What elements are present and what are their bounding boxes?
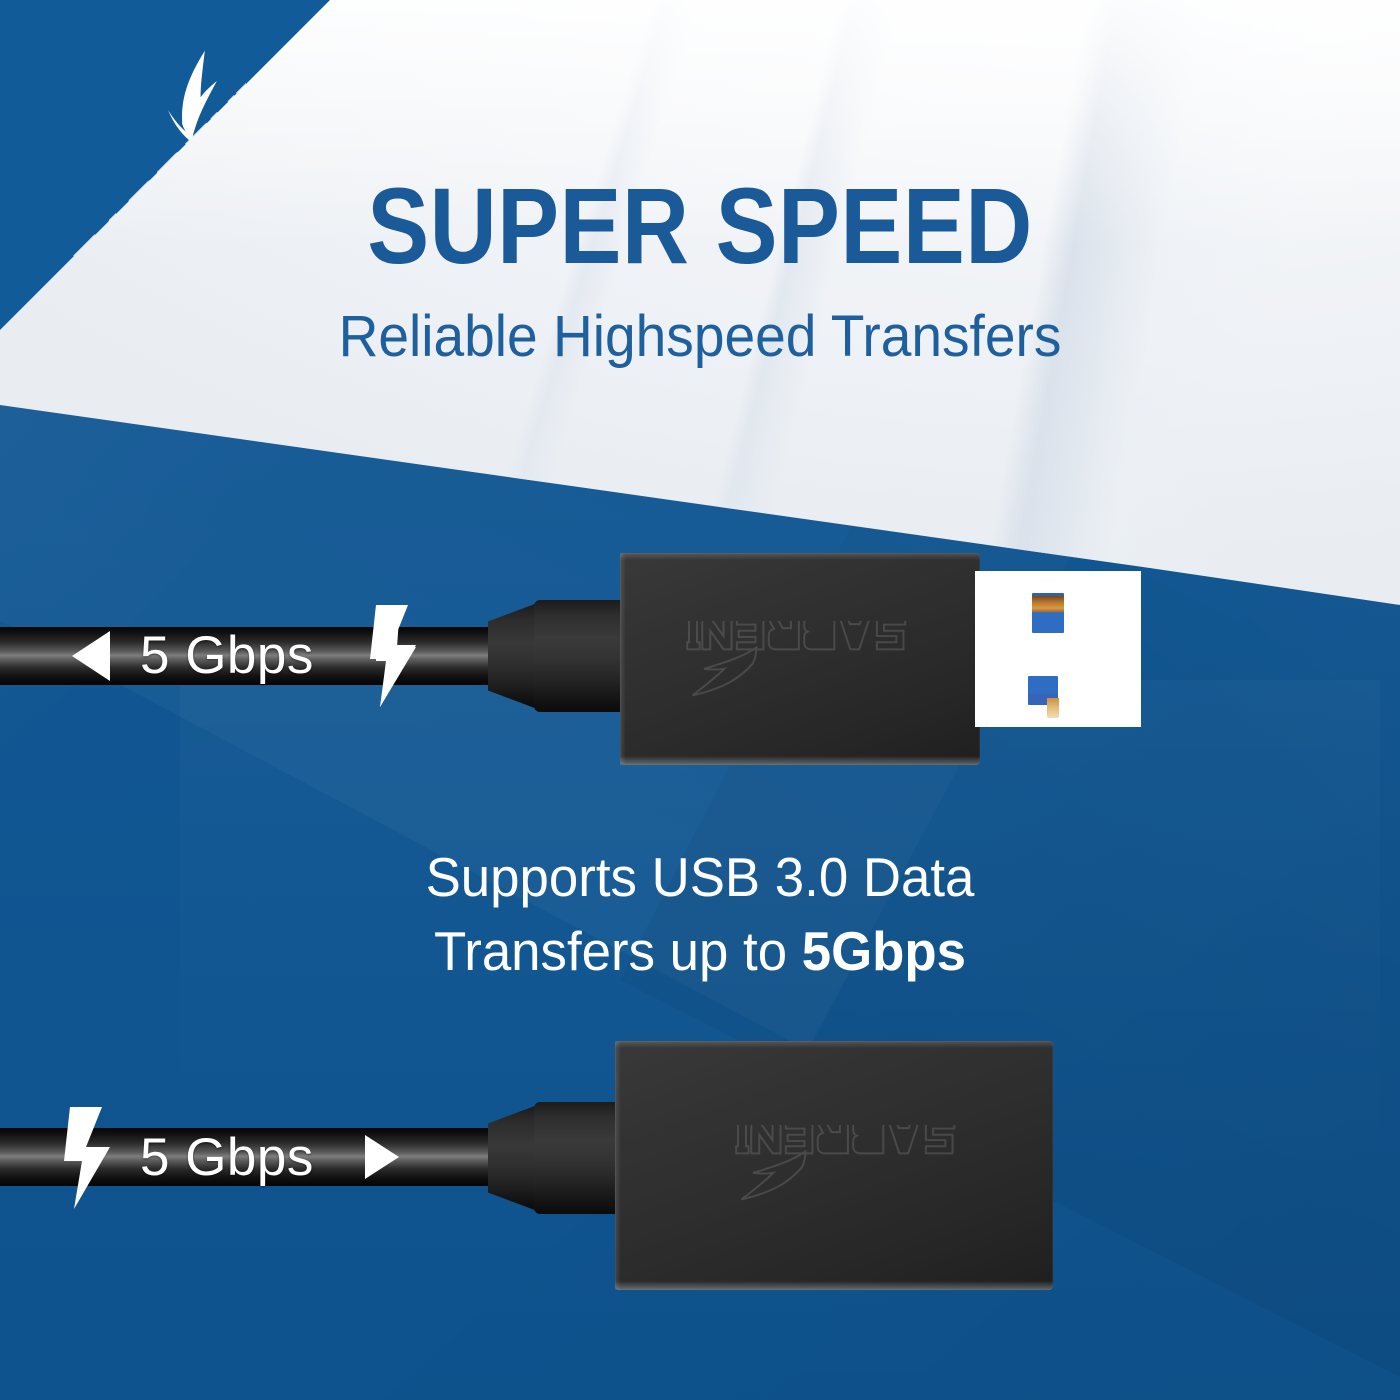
product-description-line-2-prefix: Transfers up to [434, 920, 802, 982]
top-housing-bottom-bevel [620, 756, 980, 765]
top-cable-strain-relief-boot [534, 600, 634, 712]
top-usb-connector-housing [620, 553, 980, 765]
usb-contact-pad-upper [1032, 593, 1064, 633]
product-description-emphasis: 5Gbps [802, 920, 966, 982]
bottom-housing-left-edge [615, 1041, 621, 1290]
bottom-lightning-bolt-icon [60, 1107, 120, 1209]
page-title: SUPER SPEED [98, 172, 1302, 280]
product-marketing-banner: SUPER SPEED Reliable Highspeed Transfers [0, 0, 1400, 1400]
top-housing-top-bevel [620, 553, 980, 560]
product-description-line-2: Transfers up to 5Gbps [28, 914, 1372, 988]
usb-male-tongue [975, 571, 1141, 727]
bottom-housing-sabrent-emboss-icon [697, 1125, 997, 1203]
triangle-left-icon [72, 631, 110, 681]
triangle-right-icon [365, 1135, 399, 1179]
page-subtitle: Reliable Highspeed Transfers [35, 305, 1365, 369]
usb-contact-pad-lower-gold [1047, 698, 1059, 718]
product-description: Supports USB 3.0 Data Transfers up to 5G… [28, 840, 1372, 988]
bottom-cable-speed-label: 5 Gbps [140, 1131, 314, 1184]
bottom-usb-connector-housing [615, 1041, 1053, 1290]
top-housing-left-edge [620, 553, 626, 765]
top-cable-speed-label: 5 Gbps [140, 629, 314, 682]
top-lightning-bolt-icon [366, 605, 426, 707]
bottom-housing-bottom-bevel [615, 1281, 1053, 1290]
bottom-housing-top-bevel [615, 1041, 1053, 1048]
bottom-cable-strain-relief-boot [534, 1102, 626, 1214]
product-description-line-1: Supports USB 3.0 Data [28, 840, 1372, 914]
top-housing-sabrent-emboss-icon [648, 621, 948, 699]
